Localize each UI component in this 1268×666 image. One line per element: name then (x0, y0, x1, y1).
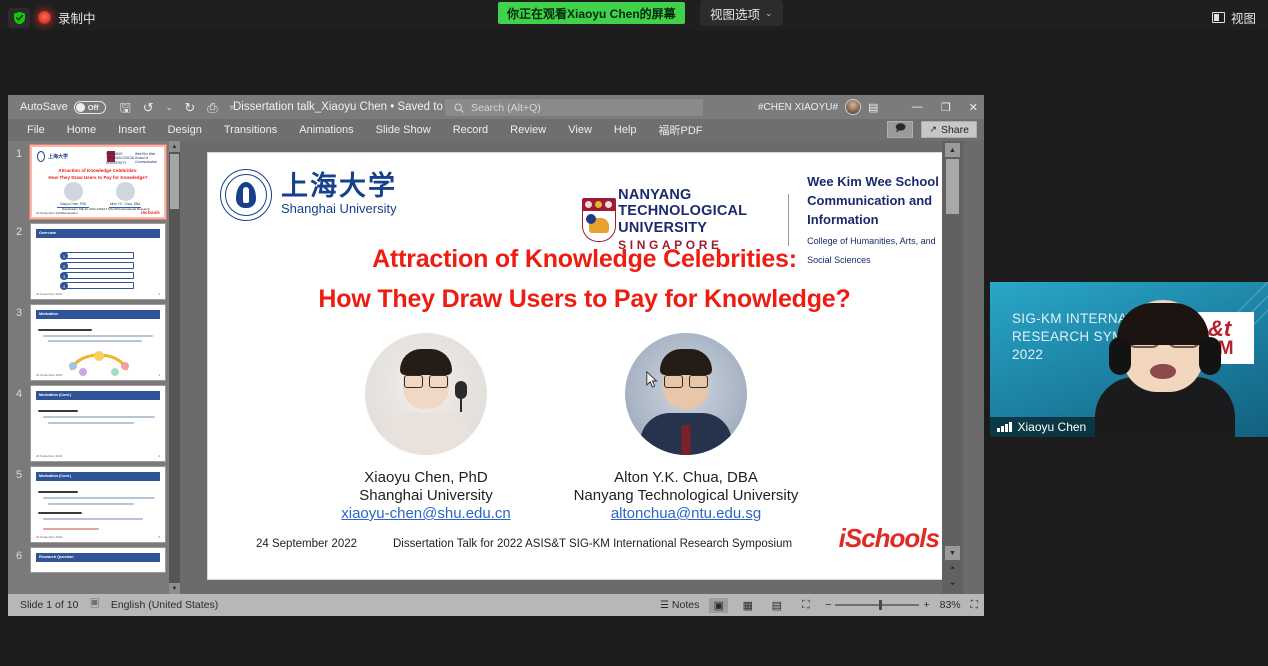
thumbnail-card[interactable]: Motivation 24 September 2022 (30, 304, 166, 381)
thumbnail-item-4[interactable]: 4 Motivation (Cont.) 24 September 2022 4 (8, 381, 180, 462)
ribbon-display-options-icon[interactable]: ▤ (868, 101, 878, 114)
thumbnail-slide-1-preview: 上海大学 NANYANGTECHNOLOGICALUNIVERSITY Wee … (32, 147, 164, 217)
mini-agenda-item: 4 (64, 282, 134, 289)
tab-help[interactable]: Help (603, 119, 648, 141)
mini-title-line1: Attraction of Knowledge Celebrities: (32, 168, 164, 173)
mini-agenda-item: 3 (64, 272, 134, 279)
mini-diagram-icon (61, 342, 137, 376)
layout-icon (1212, 12, 1225, 23)
thumbnail-card[interactable]: Research Question (30, 547, 166, 573)
tab-transitions[interactable]: Transitions (213, 119, 288, 141)
mini-text-line (38, 512, 82, 514)
recording-label: 录制中 (58, 8, 96, 27)
mini-footer-date: 24 September 2022 (36, 373, 62, 377)
mini-text-line (43, 497, 155, 499)
zoom-track[interactable] (835, 604, 919, 606)
zoom-out-button[interactable]: − (825, 599, 831, 611)
microphone-icon (455, 381, 467, 399)
thumbnail-slide-4-preview: Motivation (Cont.) 24 September 2022 4 (31, 391, 165, 461)
fit-slide-to-window-icon[interactable]: ⛶ (971, 599, 978, 612)
portrait-body (640, 413, 732, 455)
comment-icon[interactable]: 🗩 (887, 121, 913, 138)
headphone-left-icon (1109, 337, 1131, 375)
glasses-icon (664, 375, 708, 387)
mini-su-logo-icon (37, 151, 45, 162)
account-name: #CHEN XIAOYU# (758, 102, 838, 113)
mini-text-line (43, 416, 155, 418)
slide-canvas[interactable]: 上海大学 Shanghai University (207, 152, 962, 580)
mini-page-number: 4 (158, 454, 160, 458)
mini-agenda-number: 2 (60, 262, 68, 270)
mini-page-number: 3 (158, 373, 160, 377)
next-slide-icon[interactable]: ⏷ (945, 578, 960, 592)
person-mouth (1150, 364, 1176, 379)
avatar[interactable] (845, 99, 861, 115)
mini-text-line (48, 422, 134, 424)
wkw-line1: Wee Kim Wee School of (807, 174, 955, 189)
mini-agenda-item: 2 (64, 262, 134, 269)
ppt-status-bar: Slide 1 of 10 🗏 English (United States) … (8, 594, 984, 616)
thumbnail-number: 1 (8, 145, 30, 219)
autosave-state: Off (88, 103, 99, 112)
scroll-down-icon[interactable]: ▼ (169, 583, 180, 594)
screen-root: 录制中 你正在观看Xiaoyu Chen的屏幕 视图选项 ⌄ 视图 AutoSa… (0, 0, 1268, 666)
mini-text-line (43, 518, 143, 520)
ntu-lion-icon (589, 218, 609, 233)
mini-ntu-text: NANYANGTECHNOLOGICALUNIVERSITY (106, 152, 135, 165)
mini-slide-title: Motivation (36, 310, 160, 319)
su-chinese-name: 上海大学 (281, 171, 397, 201)
portrait-xiaoyu-chen (365, 333, 487, 455)
shanghai-university-seal-icon (220, 169, 272, 221)
undo-icon[interactable]: ↺ (143, 101, 154, 114)
mini-footer-date: 24 September 2022 (36, 292, 62, 296)
ribbon-tabs: File Home Insert Design Transitions Anim… (16, 119, 714, 141)
share-label: Share (941, 124, 969, 136)
thumbnail-item-6[interactable]: 6 Research Question (8, 543, 180, 573)
author-name-2: Alton Y.K. Chua, DBA (561, 469, 811, 486)
thumbnail-number: 5 (8, 466, 30, 543)
participant-name-label: Xiaoyu Chen (990, 417, 1095, 437)
portrait-hair (400, 349, 452, 375)
mini-slide-header: Motivation (Cont.) (36, 472, 160, 481)
notes-label: Notes (672, 599, 699, 611)
close-button[interactable]: ✕ (969, 101, 978, 114)
redo-icon[interactable]: ↻ (184, 101, 195, 114)
zoom-in-button[interactable]: + (923, 599, 929, 611)
wkw-line2: Communication and Information (807, 193, 932, 227)
search-placeholder: Search (Alt+Q) (471, 102, 541, 114)
mini-logos: 上海大学 NANYANGTECHNOLOGICALUNIVERSITY Wee … (37, 151, 159, 164)
thumbnail-item-5[interactable]: 5 Motivation (Cont.) 24 Se (8, 462, 180, 543)
author-email-link-1[interactable]: xiaoyu-chen@shu.edu.cn (341, 505, 511, 522)
previous-slide-icon[interactable]: ⏶ (945, 562, 960, 576)
ribbon-right-group: 🗩 ↗ Share (887, 121, 977, 138)
zoom-slider[interactable]: − + (825, 599, 929, 611)
slide-sorter-icon[interactable]: ▦ (738, 598, 757, 613)
portrait-body (380, 413, 472, 455)
author-affiliation-2: Nanyang Technological University (561, 487, 811, 504)
view-options-button[interactable]: 视图选项 ⌄ (700, 0, 783, 26)
zoom-level[interactable]: 83% (940, 599, 961, 611)
tab-record[interactable]: Record (442, 119, 499, 141)
reading-view-icon[interactable]: ▤ (767, 598, 786, 613)
mini-date: 24 September 2022 (36, 211, 62, 215)
glasses-icon (404, 375, 448, 387)
mini-slide-title: Motivation (Cont.) (36, 472, 160, 481)
mini-su-text: 上海大学 (48, 153, 68, 160)
thumbnail-number: 4 (8, 385, 30, 462)
autosave-switch[interactable]: Off (74, 101, 106, 114)
mini-slide-header: Motivation (36, 310, 160, 319)
mini-text-line (43, 528, 99, 530)
su-logo-text: 上海大学 Shanghai University (281, 173, 397, 218)
quick-access-toolbar: 🖫 ↺ ⌄ ↻ ⎙ ▿ (120, 101, 234, 114)
slide-scrollbar[interactable]: ▲ ▼ ⏶ ⏷ (942, 141, 963, 594)
author-email-link-2[interactable]: altonchua@ntu.edu.sg (611, 505, 761, 522)
share-icon: ↗ (929, 124, 937, 135)
slide-title-line1: Attraction of Knowledge Celebrities: (208, 245, 961, 274)
person-hair (1117, 303, 1209, 345)
slide-position[interactable]: Slide 1 of 10 (20, 599, 78, 611)
thumbnail-number: 2 (8, 223, 30, 300)
thumbnail-card[interactable]: 上海大学 NANYANGTECHNOLOGICALUNIVERSITY Wee … (30, 145, 166, 219)
tab-animations[interactable]: Animations (288, 119, 364, 141)
ppt-title-bar: AutoSave Off 🖫 ↺ ⌄ ↻ ⎙ ▿ Dissertation ta… (8, 95, 984, 119)
thumbnail-slide-2-preview: Overview 1 2 3 4 24 September 2022 2 (31, 229, 165, 299)
ntu-crest-top (582, 198, 616, 211)
minimize-button[interactable]: — (912, 101, 923, 113)
slide-show-icon[interactable]: ⛶ (796, 598, 815, 613)
scroll-up-icon[interactable]: ▲ (169, 141, 180, 152)
autosave-toggle[interactable]: AutoSave Off (20, 101, 106, 114)
start-presentation-icon[interactable]: ⎙ (207, 101, 217, 114)
ntu-crest-icon (582, 198, 608, 242)
mini-text-line (43, 335, 153, 337)
thumbnail-card[interactable]: Motivation (Cont.) 24 September 2022 5 (30, 466, 166, 543)
ntu-line3: UNIVERSITY (618, 220, 707, 236)
su-tulip-mark (236, 182, 256, 208)
mini-footer-date: 24 September 2022 (36, 454, 62, 458)
thumbnail-number: 3 (8, 304, 30, 381)
scroll-down-icon[interactable]: ▼ (945, 546, 960, 560)
headphone-right-icon (1199, 337, 1221, 375)
tab-home[interactable]: Home (56, 119, 107, 141)
save-icon[interactable]: 🖫 (120, 101, 131, 114)
mini-slide-header: Motivation (Cont.) (36, 391, 160, 400)
status-left-group: Slide 1 of 10 🗏 English (United States) (20, 596, 218, 614)
slide-thumbnail-pane[interactable]: 1 上海大学 NANYANGTECHNOLOGICALUNIVERSITY We… (8, 141, 180, 594)
autosave-label: AutoSave (20, 101, 68, 113)
zoom-top-bar: 录制中 你正在观看Xiaoyu Chen的屏幕 视图选项 ⌄ 视图 (0, 0, 1268, 30)
mini-agenda-item: 1 (64, 252, 134, 259)
mini-slide-header: Overview (36, 229, 160, 238)
mini-text-line (38, 329, 92, 331)
thumbnail-number: 6 (8, 547, 30, 573)
ntu-line2: TECHNOLOGICAL (618, 203, 747, 219)
scrollbar-thumb[interactable] (170, 154, 179, 209)
tab-view[interactable]: View (557, 119, 603, 141)
mini-agenda-number: 1 (60, 252, 68, 260)
ribbon-tab-bar: File Home Insert Design Transitions Anim… (8, 119, 984, 141)
view-layout-button[interactable]: 视图 (1212, 8, 1256, 27)
screen-share-banner: 你正在观看Xiaoyu Chen的屏幕 (498, 2, 685, 24)
account-area[interactable]: #CHEN XIAOYU# ▤ (758, 95, 878, 119)
chevron-down-icon: ⌄ (765, 8, 773, 19)
portrait-hair (660, 349, 712, 375)
thumbnail-slide-6-preview: Research Question (31, 553, 165, 573)
share-button[interactable]: ↗ Share (921, 121, 977, 138)
su-english-name: Shanghai University (281, 201, 397, 216)
mini-agenda-number: 4 (60, 282, 68, 290)
normal-view-icon[interactable]: ▣ (709, 598, 728, 613)
tab-file[interactable]: File (16, 119, 56, 141)
mini-page-number: 5 (158, 535, 160, 539)
mini-text-line (38, 410, 78, 412)
thumbnail-slide-5-preview: Motivation (Cont.) 24 September 2022 5 (31, 472, 165, 542)
slide-footer-text: Dissertation Talk for 2022 ASIS&T SIG-KM… (393, 538, 792, 550)
search-input[interactable]: Search (Alt+Q) (445, 99, 703, 116)
author-block-1: Xiaoyu Chen, PhD Shanghai University xia… (301, 333, 551, 523)
thumbnail-slide-3-preview: Motivation 24 September 2022 (31, 310, 165, 380)
mini-slide-title: Overview (36, 229, 160, 238)
zoom-knob[interactable] (879, 600, 882, 610)
view-options-label: 视图选项 (710, 4, 760, 23)
mini-page-number: 2 (158, 292, 160, 296)
shield-check-icon[interactable] (8, 8, 30, 28)
thumbnail-card[interactable]: Motivation (Cont.) 24 September 2022 4 (30, 385, 166, 462)
search-icon (454, 103, 464, 113)
ischools-logo: iSchools (839, 523, 939, 554)
signal-bars-icon (997, 422, 1012, 432)
participant-name: Xiaoyu Chen (1018, 420, 1087, 434)
mini-footer-date: 24 September 2022 (36, 535, 62, 539)
mouse-cursor (646, 371, 658, 389)
recording-indicator[interactable]: 录制中 (38, 6, 96, 28)
ntu-crest-bottom (582, 211, 616, 242)
scroll-up-icon[interactable]: ▲ (945, 143, 960, 157)
participant-video-tile[interactable]: SIG-KM INTERNATIONAL RESEARCH SYMPOSIUM … (990, 282, 1268, 437)
mini-portrait-2 (116, 182, 135, 201)
thumbnail-item-3[interactable]: 3 Motivation (8, 300, 180, 381)
notes-icon: ☰ (660, 600, 669, 611)
autosave-knob (76, 103, 85, 112)
mini-wkw-text: Wee Kim Wee School of Communication (135, 152, 159, 164)
language-label[interactable]: English (United States) (111, 599, 218, 611)
notes-button[interactable]: ☰ Notes (660, 599, 699, 611)
shanghai-university-logo: 上海大学 Shanghai University (220, 169, 397, 221)
participant-webcam-image (1095, 295, 1235, 437)
mini-title-line2: How They Draw Users to Pay for Knowledge… (32, 175, 164, 180)
thumbnail-card[interactable]: Overview 1 2 3 4 24 September 2022 2 (30, 223, 166, 300)
record-dot-icon (38, 11, 51, 24)
author-block-2: Alton Y.K. Chua, DBA Nanyang Technologic… (561, 333, 811, 523)
slide-date: 24 September 2022 (256, 538, 357, 550)
mini-author-1: Xiaoyu Chen, PhD (53, 202, 93, 206)
mini-slide-header: Research Question (36, 553, 160, 562)
accessibility-checker-icon[interactable]: 🗏 (90, 596, 98, 614)
slide-title-line2: How They Draw Users to Pay for Knowledge… (208, 285, 961, 314)
mini-text-line (38, 491, 78, 493)
author-name-1: Xiaoyu Chen, PhD (301, 469, 551, 486)
mini-slide-title: Research Question (36, 553, 160, 562)
mini-ischools-logo: iSchools (141, 210, 160, 215)
tab-review[interactable]: Review (499, 119, 557, 141)
mini-text-line (48, 503, 134, 505)
mini-slide-title: Motivation (Cont.) (36, 391, 160, 400)
tab-insert[interactable]: Insert (107, 119, 157, 141)
mini-agenda-number: 3 (60, 272, 68, 280)
slide-canvas-area: 上海大学 Shanghai University (180, 141, 963, 594)
thumbnail-scrollbar[interactable]: ▲ ▼ (169, 141, 180, 594)
mini-portrait-1 (64, 182, 83, 201)
thumbnail-item-1[interactable]: 1 上海大学 NANYANGTECHNOLOGICALUNIVERSITY We… (8, 141, 180, 219)
necktie (682, 425, 691, 455)
ntu-line1: NANYANG (618, 187, 691, 203)
ntu-wordmark: NANYANG TECHNOLOGICAL UNIVERSITY SINGAPO… (618, 187, 770, 254)
scrollbar-thumb[interactable] (946, 159, 959, 214)
powerpoint-window: AutoSave Off 🖫 ↺ ⌄ ↻ ⎙ ▿ Dissertation ta… (8, 95, 984, 616)
undo-chevron-down-icon[interactable]: ⌄ (166, 103, 173, 112)
mini-author-2: Alton Y.K. Chua, DBA (105, 202, 145, 206)
portrait-alton-chua (625, 333, 747, 455)
view-button-label: 视图 (1231, 8, 1256, 27)
thumbnail-item-2[interactable]: 2 Overview 1 2 3 4 24 September 2022 2 (8, 219, 180, 300)
author-affiliation-1: Shanghai University (301, 487, 551, 504)
window-buttons: — ❐ ✕ (912, 95, 978, 119)
status-right-group: ☰ Notes ▣ ▦ ▤ ⛶ − + 83% ⛶ (660, 598, 978, 613)
tab-design[interactable]: Design (157, 119, 213, 141)
tab-foxit-pdf[interactable]: 福昕PDF (648, 119, 714, 141)
tab-slide-show[interactable]: Slide Show (365, 119, 442, 141)
ppt-work-area: 1 上海大学 NANYANGTECHNOLOGICALUNIVERSITY We… (8, 141, 984, 594)
restore-button[interactable]: ❐ (941, 101, 951, 114)
logo-divider (788, 194, 789, 246)
